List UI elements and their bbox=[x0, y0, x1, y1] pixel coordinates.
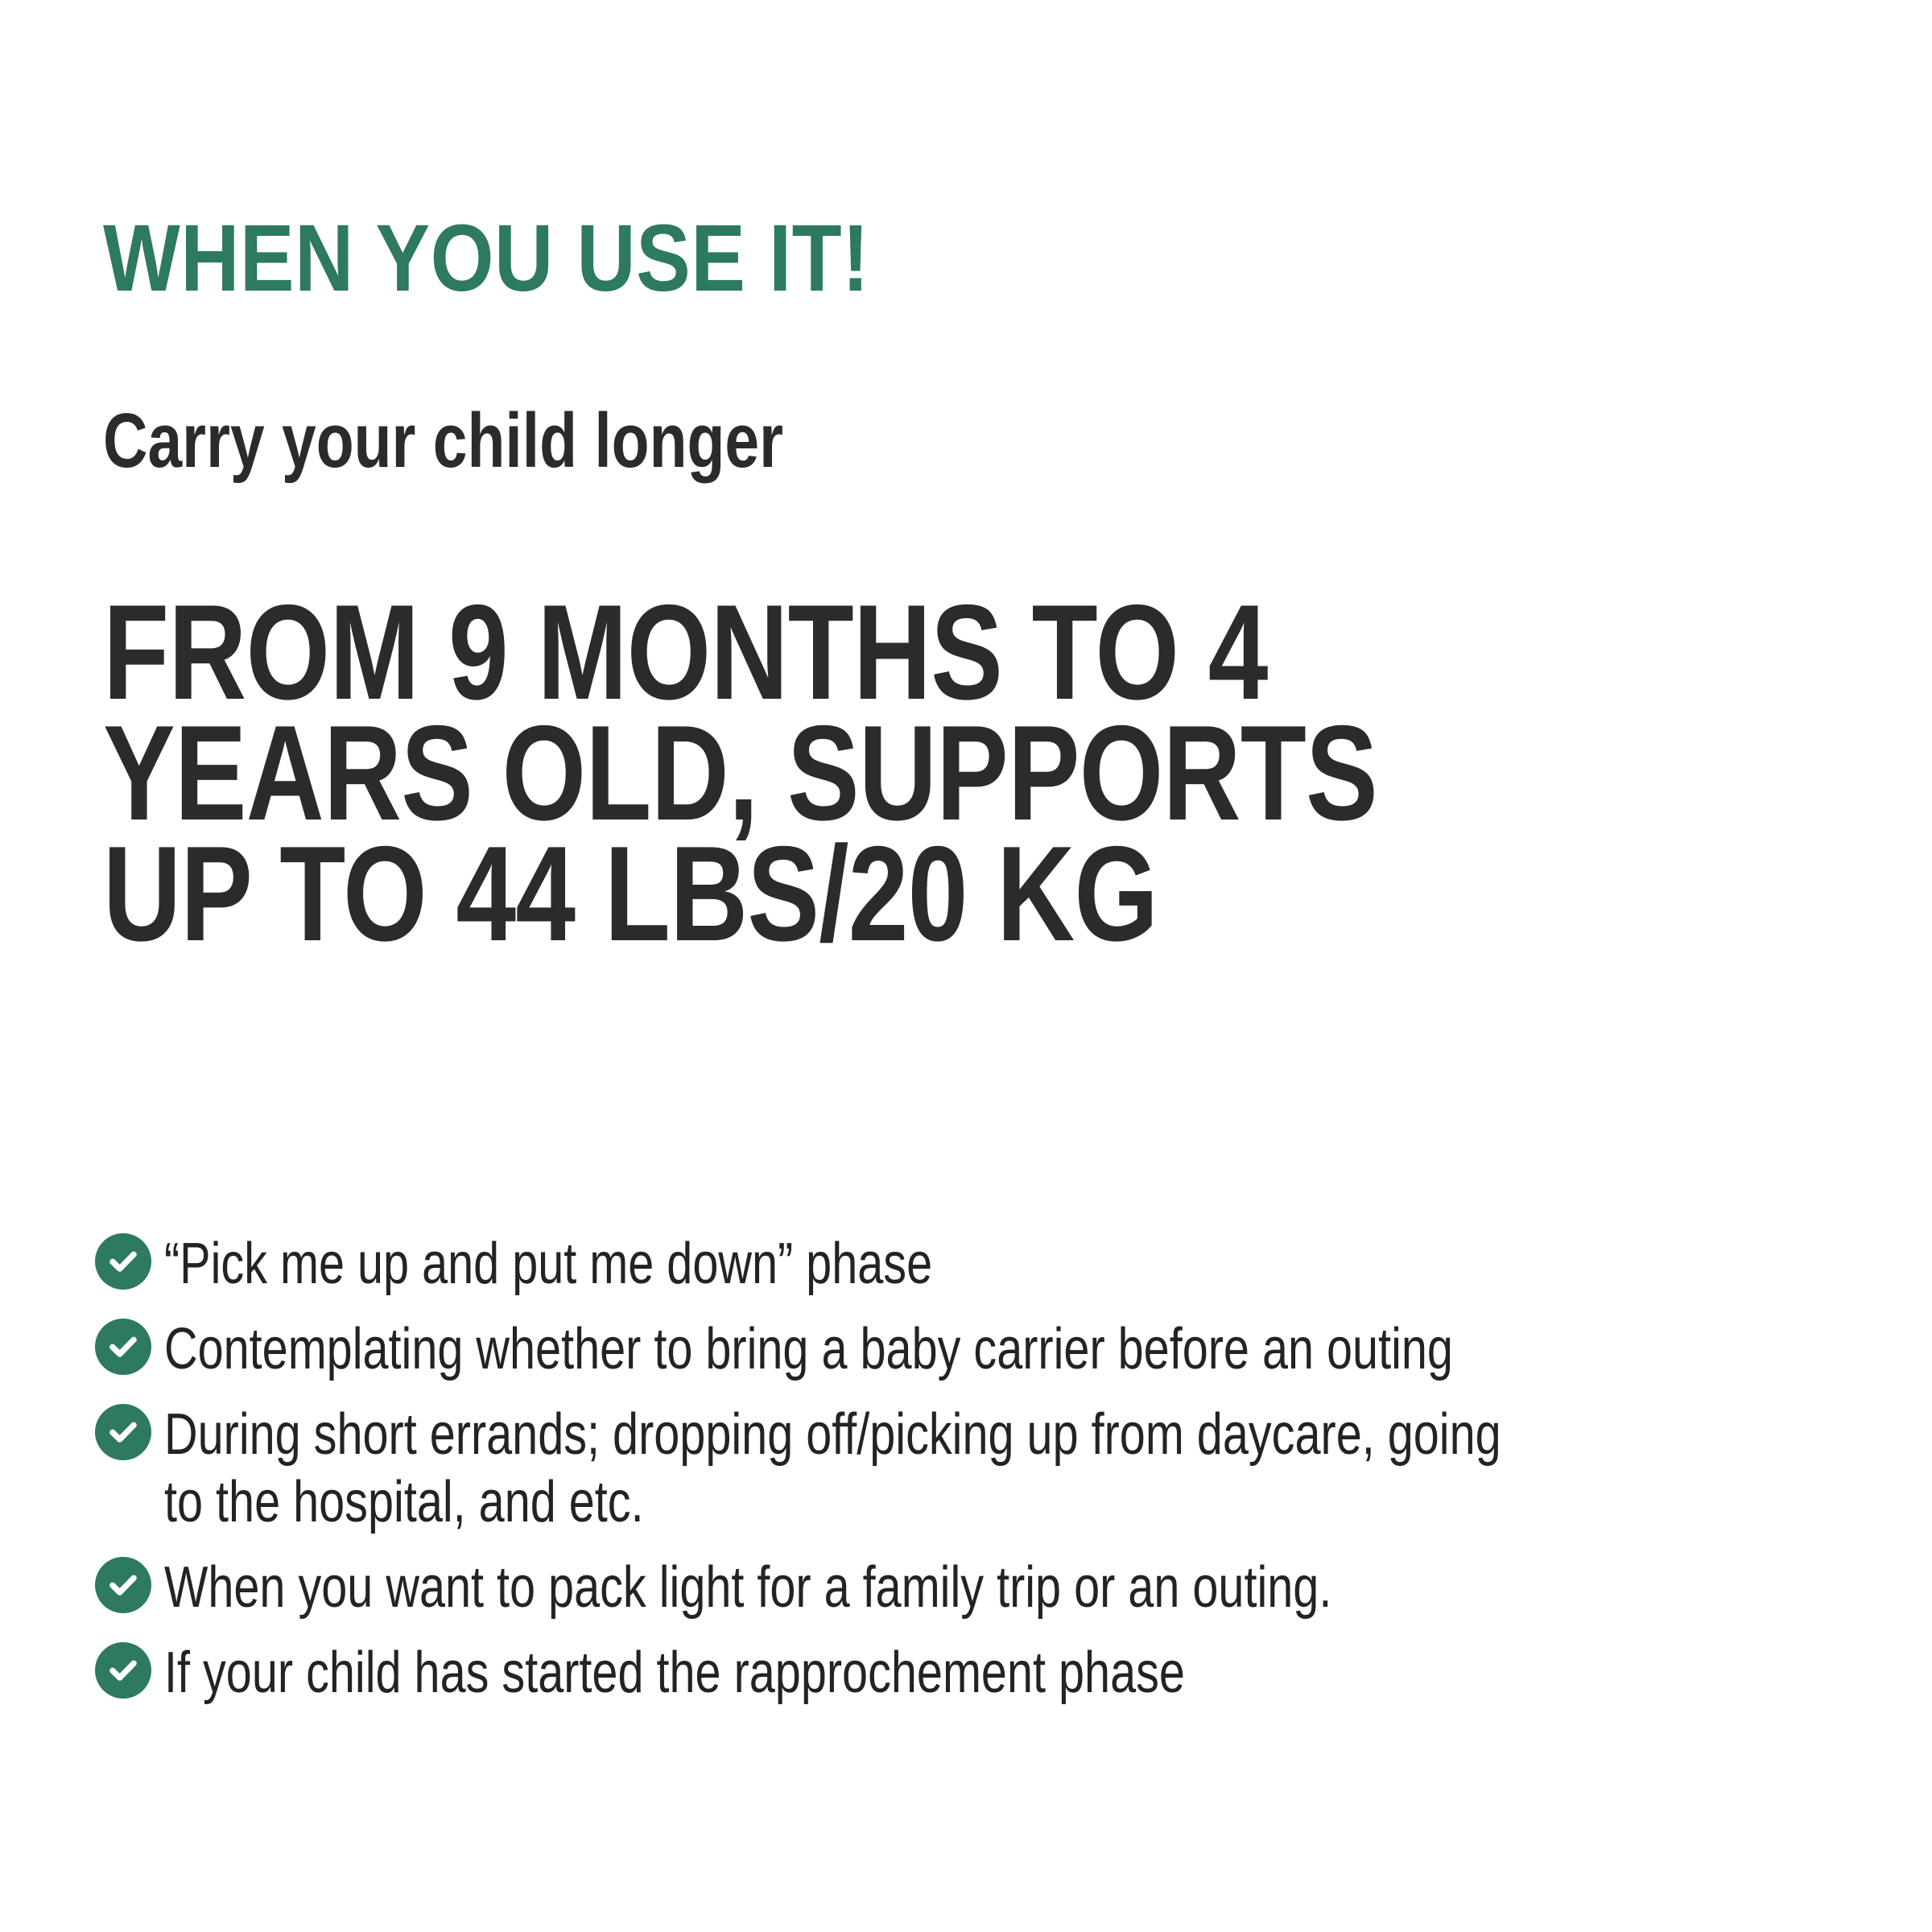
list-item: During short errands; dropping off/picki… bbox=[95, 1401, 1882, 1536]
check-circle-icon bbox=[95, 1557, 151, 1613]
list-item-label: Contemplating whether to bring a baby ca… bbox=[164, 1315, 1538, 1383]
headline-line-3: UP TO 44 LBS/20 KG bbox=[103, 833, 1520, 954]
list-item-label: During short errands; dropping off/picki… bbox=[164, 1401, 1538, 1536]
list-item: When you want to pack light for a family… bbox=[95, 1554, 1882, 1621]
list-item: If your child has started the rapprochem… bbox=[95, 1639, 1882, 1707]
list-item-label: If your child has started the rapprochem… bbox=[164, 1639, 1538, 1707]
check-circle-icon bbox=[95, 1233, 151, 1290]
list-item-label: “Pick me up and put me down” phase bbox=[164, 1230, 1538, 1298]
check-circle-icon bbox=[95, 1319, 151, 1375]
headline-line-2: YEARS OLD, SUPPORTS bbox=[103, 712, 1520, 833]
section-subtitle: Carry your child longer bbox=[103, 402, 783, 480]
list-item: Contemplating whether to bring a baby ca… bbox=[95, 1315, 1882, 1383]
list-item-label: When you want to pack light for a family… bbox=[164, 1554, 1538, 1621]
check-circle-icon bbox=[95, 1642, 151, 1699]
headline-line-1: FROM 9 MONTHS TO 4 bbox=[103, 592, 1520, 712]
section-eyebrow-title: WHEN YOU USE IT! bbox=[103, 211, 869, 306]
product-info-poster: WHEN YOU USE IT! Carry your child longer… bbox=[0, 0, 1932, 1932]
headline-block: FROM 9 MONTHS TO 4 YEARS OLD, SUPPORTS U… bbox=[103, 592, 1874, 954]
list-item: “Pick me up and put me down” phase bbox=[95, 1230, 1882, 1298]
check-circle-icon bbox=[95, 1404, 151, 1460]
use-case-list: “Pick me up and put me down” phase Conte… bbox=[95, 1230, 1882, 1724]
